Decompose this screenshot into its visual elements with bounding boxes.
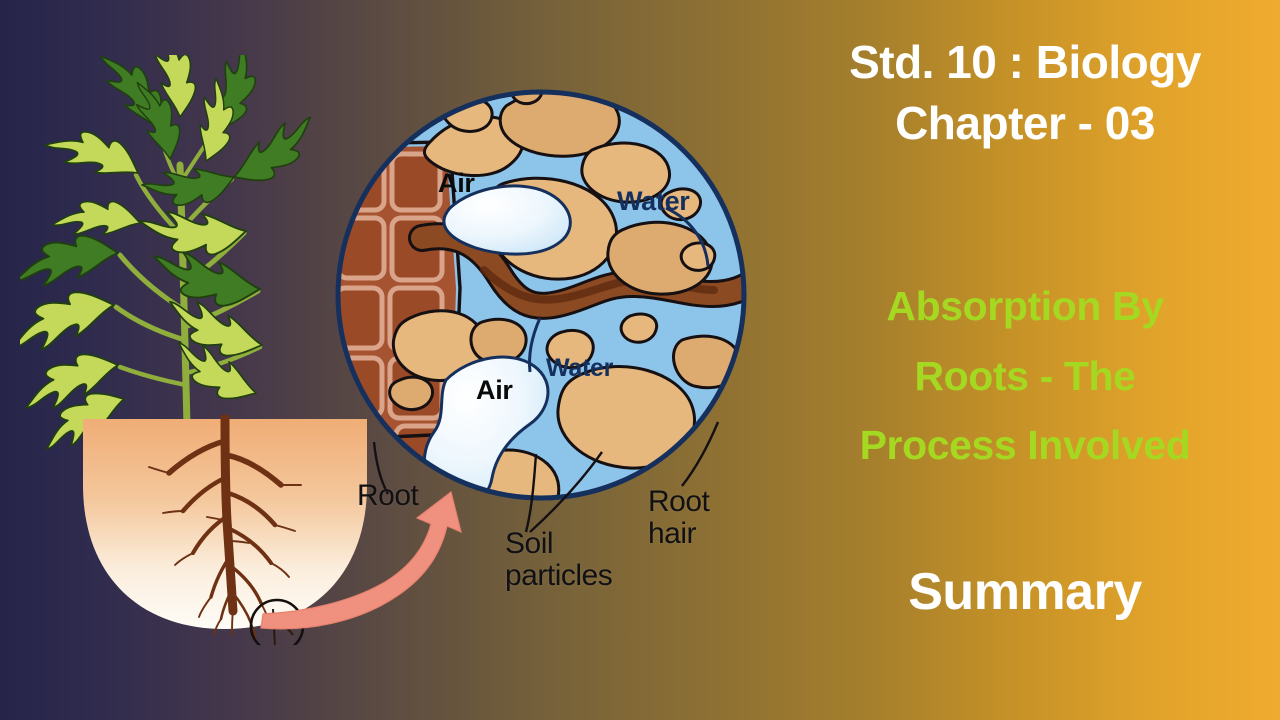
subtitle-line-1: Absorption By	[778, 272, 1272, 342]
label-air-bottom: Air	[476, 375, 513, 406]
label-root: Root	[357, 480, 418, 512]
slide-root: Root Soil particles Root hair Air Air Wa…	[0, 0, 1280, 720]
label-soil-particles: Soil particles	[505, 528, 612, 592]
title-block: Std. 10 : Biology Chapter - 03	[770, 32, 1280, 154]
label-water-top: Water	[617, 186, 690, 217]
summary-label: Summary	[770, 562, 1280, 622]
subtitle-line-3: Process Involved	[778, 411, 1272, 481]
text-panel: Std. 10 : Biology Chapter - 03 Absorptio…	[770, 0, 1280, 720]
summary-block: Summary	[770, 562, 1280, 622]
subtitle-line-2: Roots - The	[778, 342, 1272, 412]
root-absorption-illustration: Root Soil particles Root hair Air Air Wa…	[0, 0, 770, 720]
label-air-top: Air	[438, 168, 475, 199]
title-line-1: Std. 10 : Biology	[770, 32, 1280, 93]
label-root-hair: Root hair	[648, 486, 709, 550]
subtitle-block: Absorption By Roots - The Process Involv…	[778, 272, 1272, 481]
title-line-2: Chapter - 03	[770, 93, 1280, 154]
plant-illustration	[20, 55, 350, 475]
label-water-bottom: Water	[546, 354, 613, 383]
